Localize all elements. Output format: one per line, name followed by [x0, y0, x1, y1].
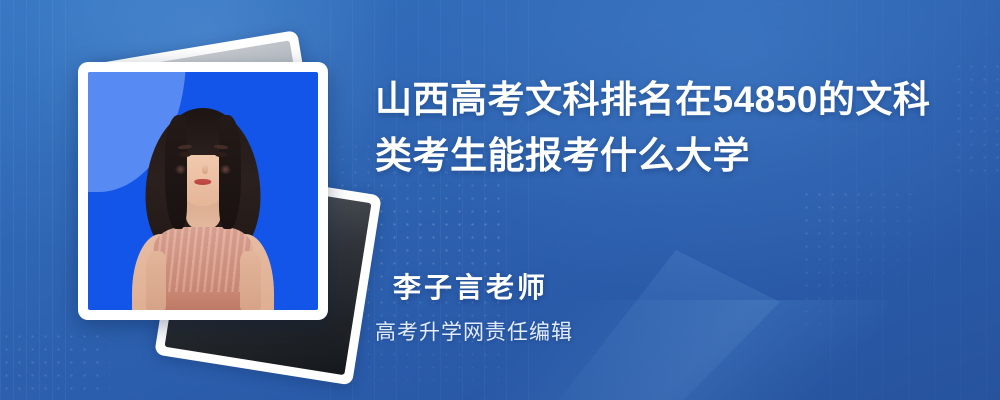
author-role: 高考升学网责任编辑 [375, 316, 573, 346]
main-photo-card-inner [88, 72, 318, 310]
main-photo-card [78, 62, 328, 320]
article-cover-banner: 山西高考文科排名在54850的文科类考生能报考什么大学 李子言老师 高考升学网责… [0, 0, 1000, 400]
page-title: 山西高考文科排名在54850的文科类考生能报考什么大学 [375, 72, 955, 184]
portrait-dress-band [154, 292, 253, 310]
portrait-nose [202, 164, 208, 174]
photo-card-stack [40, 14, 370, 390]
portrait-arm-left [146, 251, 167, 311]
author-name: 李子言老师 [393, 266, 548, 306]
portrait-icon [88, 72, 318, 310]
banner-text-block: 山西高考文科排名在54850的文科类考生能报考什么大学 李子言老师 高考升学网责… [375, 0, 975, 400]
portrait-arm-right [240, 251, 261, 311]
